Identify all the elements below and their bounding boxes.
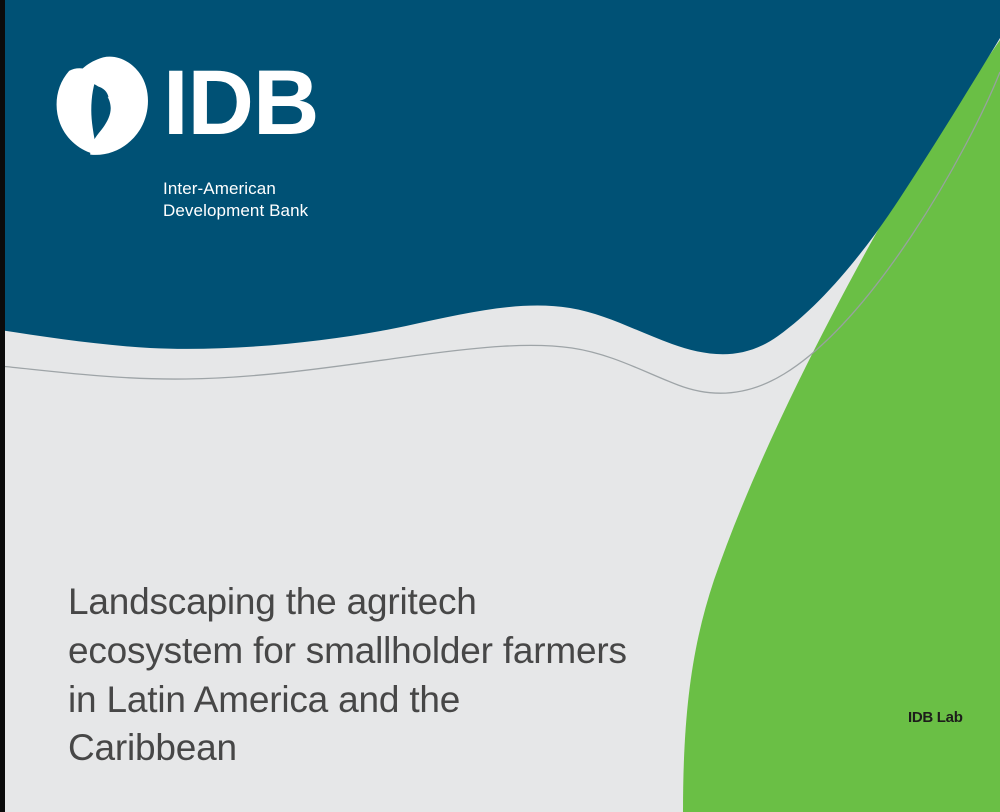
cover-title-line-2: ecosystem for smallholder farmers [68, 627, 668, 676]
idb-logo-row: IDB [47, 52, 318, 160]
cover-title-line-1: Landscaping the agritech [68, 578, 668, 627]
idb-subtitle-line-1: Inter-American [163, 178, 308, 200]
idb-lab-wordmark: IDB Lab [908, 709, 963, 726]
cover-title: Landscaping the agritech ecosystem for s… [68, 578, 668, 773]
idb-wordmark: IDB [163, 64, 318, 143]
idb-subtitle: Inter-American Development Bank [163, 178, 308, 223]
idb-leaf-americas-mark-icon [47, 52, 155, 160]
cover-title-line-4: Caribbean [68, 724, 668, 773]
cover-title-line-3: in Latin America and the [68, 676, 668, 725]
report-cover-page: IDB Inter-American Development Bank Land… [0, 0, 1000, 812]
page-left-edge [0, 0, 5, 812]
idb-logo-lockup: IDB Inter-American Development Bank [47, 52, 318, 223]
idb-subtitle-line-2: Development Bank [163, 200, 308, 222]
